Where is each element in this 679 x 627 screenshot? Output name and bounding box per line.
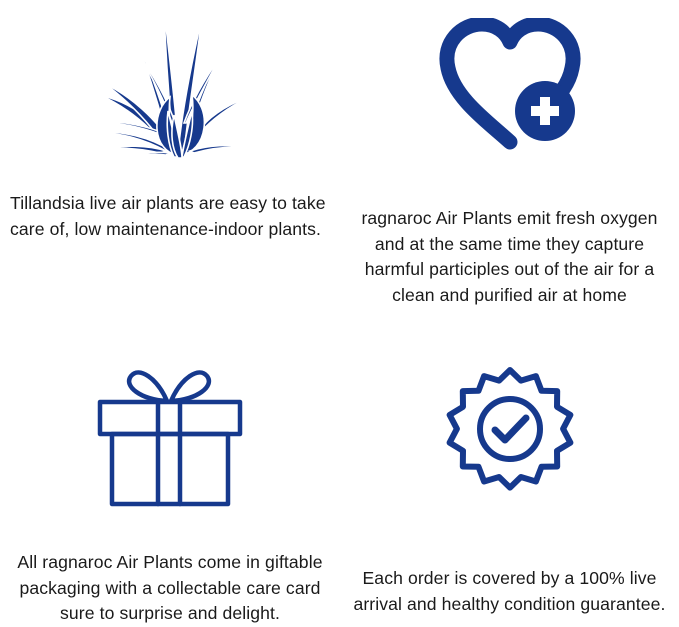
air-plant-icon xyxy=(78,0,263,173)
feature-caption: Tillandsia live air plants are easy to t… xyxy=(4,191,336,242)
feature-card-fresh-oxygen: ragnaroc Air Plants emit fresh oxygen an… xyxy=(340,0,679,308)
feature-caption: ragnaroc Air Plants emit fresh oxygen an… xyxy=(345,206,675,308)
heart-plus-icon xyxy=(436,0,584,188)
feature-caption: Each order is covered by a 100% live arr… xyxy=(345,566,675,617)
gift-box-icon xyxy=(91,308,249,508)
feature-card-easy-care: Tillandsia live air plants are easy to t… xyxy=(0,0,340,308)
feature-card-giftable-packaging: All ragnaroc Air Plants come in giftable… xyxy=(0,308,340,617)
feature-caption: All ragnaroc Air Plants come in giftable… xyxy=(6,550,334,627)
guarantee-seal-icon xyxy=(446,308,574,524)
feature-grid: Tillandsia live air plants are easy to t… xyxy=(0,0,679,617)
feature-card-live-arrival-guarantee: Each order is covered by a 100% live arr… xyxy=(340,308,679,617)
